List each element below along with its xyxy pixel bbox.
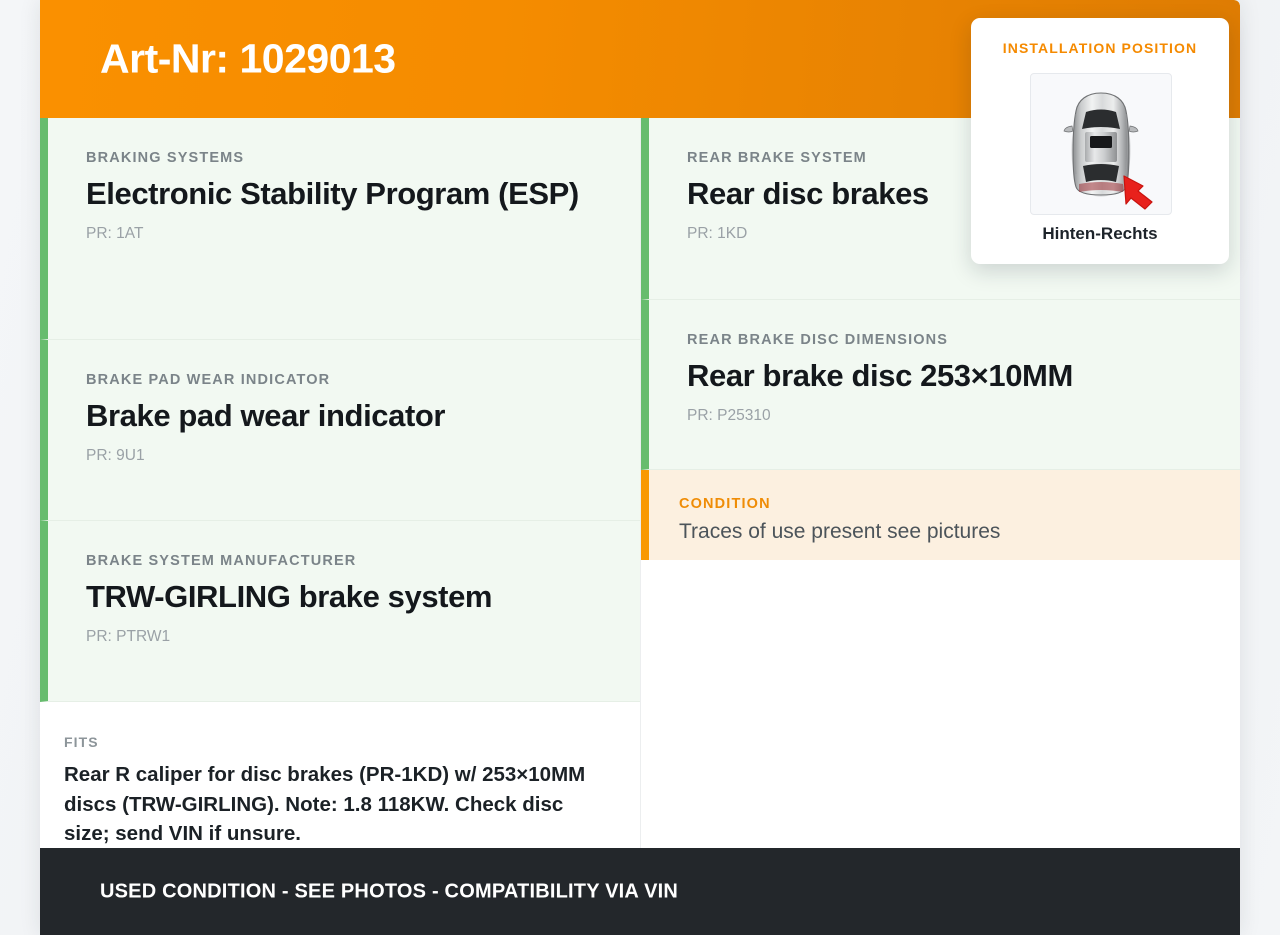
- spec-pr-code: PR: PTRW1: [86, 628, 598, 646]
- spec-value: Electronic Stability Program (ESP): [86, 173, 598, 215]
- spec-row-rear-brake-disc-dimensions: REAR BRAKE DISC DIMENSIONS Rear brake di…: [641, 300, 1240, 470]
- spec-value: TRW-GIRLING brake system: [86, 576, 598, 618]
- spec-label: REAR BRAKE DISC DIMENSIONS: [687, 332, 1198, 348]
- position-arrow-icon: [1031, 74, 1171, 214]
- condition-row: CONDITION Traces of use present see pict…: [641, 470, 1240, 560]
- page-root: Art-Nr: 1029013 BRAKING SYSTEMS Electron…: [0, 0, 1280, 935]
- condition-label: CONDITION: [679, 496, 1198, 512]
- spec-label: BRAKE PAD WEAR INDICATOR: [86, 372, 598, 388]
- spec-value: Rear brake disc 253×10MM: [687, 355, 1198, 397]
- spec-label: BRAKING SYSTEMS: [86, 150, 598, 166]
- spec-row-brake-system-manufacturer: BRAKE SYSTEM MANUFACTURER TRW-GIRLING br…: [40, 521, 640, 702]
- spec-value: Brake pad wear indicator: [86, 395, 598, 437]
- condition-text: Traces of use present see pictures: [679, 520, 1198, 544]
- spec-row-brake-pad-wear-indicator: BRAKE PAD WEAR INDICATOR Brake pad wear …: [40, 340, 640, 521]
- installation-position-image: [1030, 73, 1172, 215]
- fits-label: FITS: [64, 734, 594, 750]
- page-title: Art-Nr: 1029013: [100, 36, 396, 83]
- spec-pr-code: PR: P25310: [687, 407, 1198, 425]
- spec-label: BRAKE SYSTEM MANUFACTURER: [86, 553, 598, 569]
- spec-pr-code: PR: 1AT: [86, 225, 598, 243]
- fits-text: Rear R caliper for disc brakes (PR-1KD) …: [64, 760, 594, 849]
- installation-position-title: INSTALLATION POSITION: [971, 40, 1229, 56]
- footer-bar: USED CONDITION - SEE PHOTOS - COMPATIBIL…: [40, 848, 1240, 935]
- spec-pr-code: PR: 9U1: [86, 447, 598, 465]
- installation-position-card[interactable]: INSTALLATION POSITION: [971, 18, 1229, 264]
- left-spec-column: BRAKING SYSTEMS Electronic Stability Pro…: [40, 118, 641, 848]
- spec-row-braking-systems: BRAKING SYSTEMS Electronic Stability Pro…: [40, 118, 640, 340]
- installation-position-caption: Hinten-Rechts: [971, 224, 1229, 244]
- footer-text: USED CONDITION - SEE PHOTOS - COMPATIBIL…: [100, 880, 678, 903]
